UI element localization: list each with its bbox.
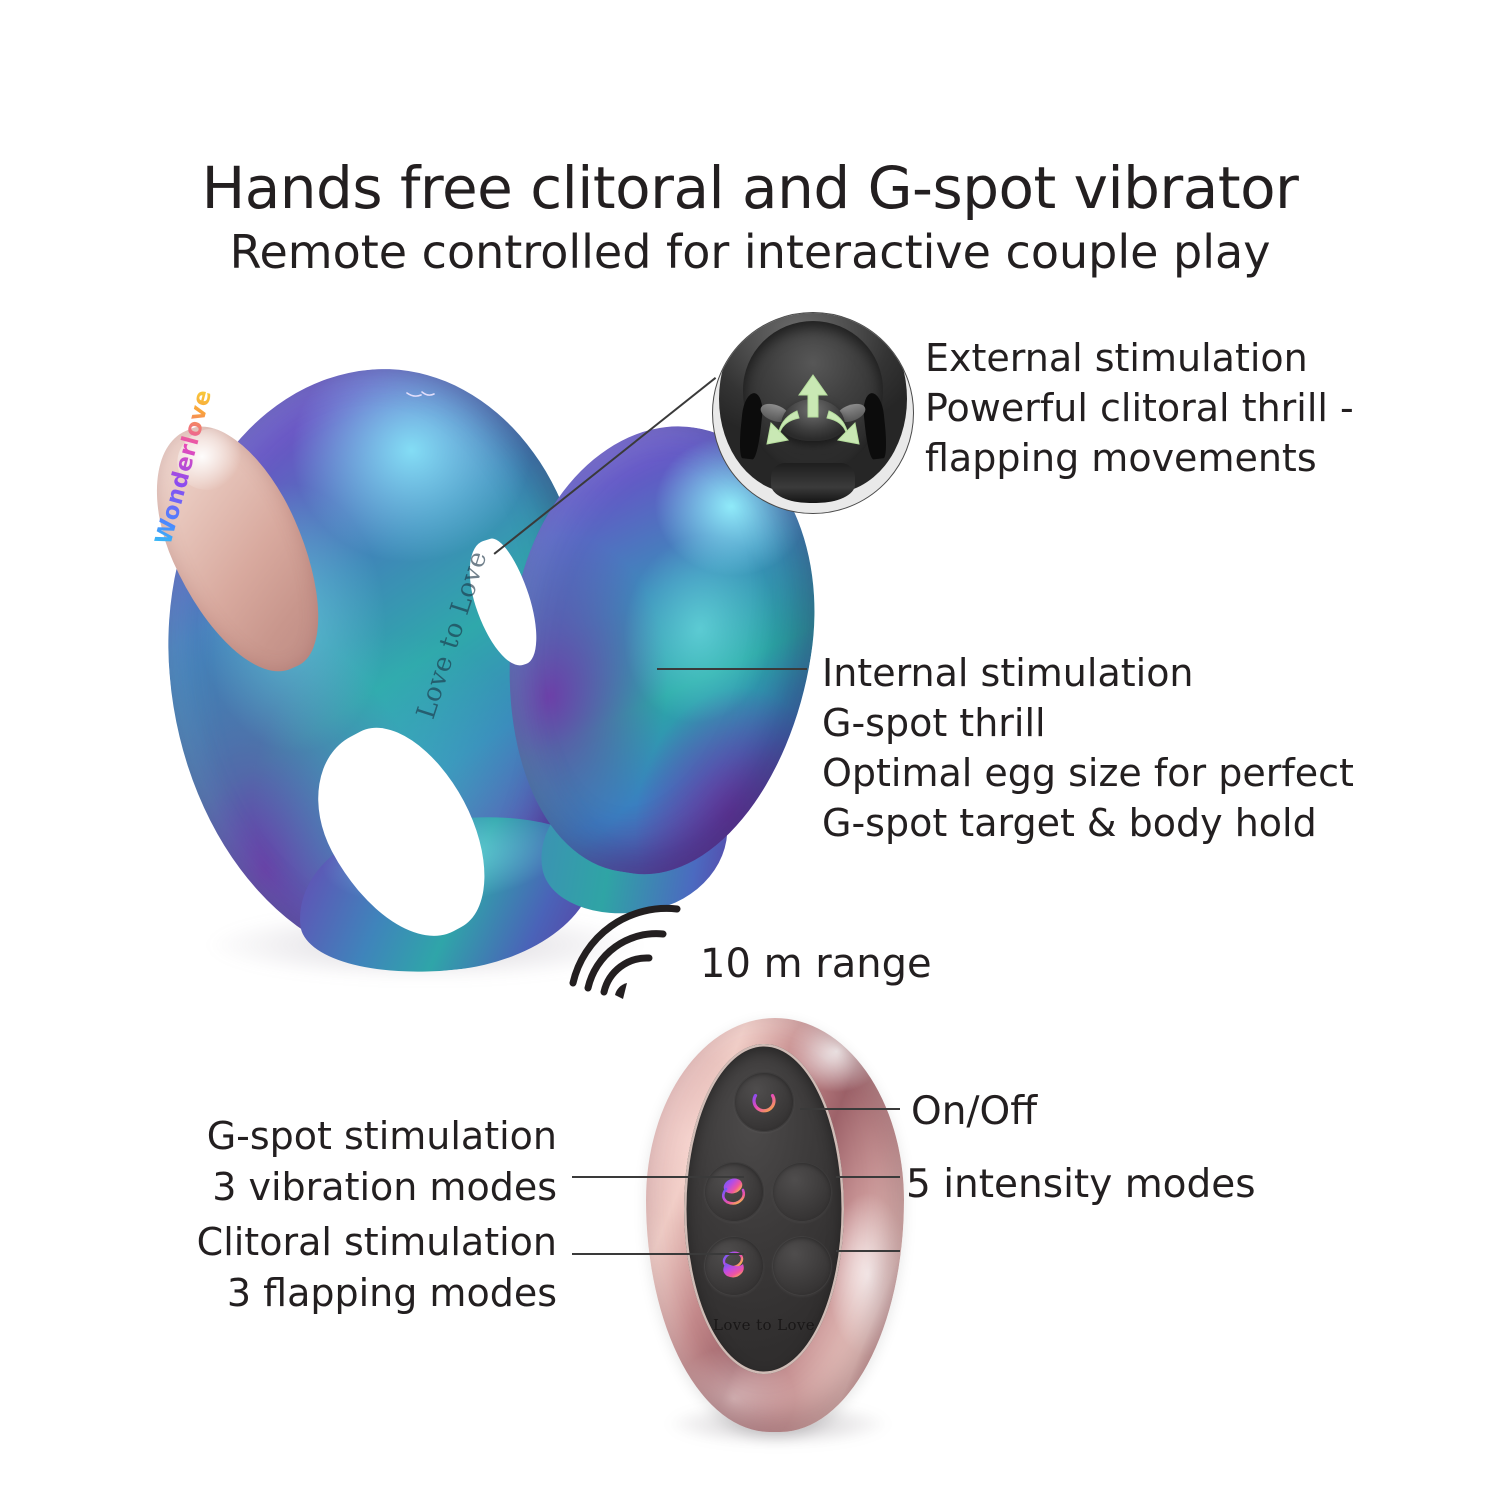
leader-line-intensity-down: [836, 1250, 900, 1252]
callout-intensity-label: 5 intensity modes: [906, 1159, 1256, 1210]
power-icon: [749, 1087, 779, 1117]
arrow-down-right-icon: [827, 411, 859, 444]
intensity-down-button[interactable]: [772, 1236, 832, 1296]
callout-external-stimulation: External stimulation Powerful clitoral t…: [925, 333, 1354, 483]
intensity-up-button[interactable]: [772, 1162, 832, 1222]
leader-line-internal: [657, 668, 807, 670]
clitoral-mode-button[interactable]: [704, 1236, 764, 1296]
callout-internal-stimulation: Internal stimulation G-spot thrill Optim…: [822, 648, 1354, 849]
callout-clitoral-line-2: 3 flapping modes: [197, 1268, 557, 1319]
callout-internal-line-2: G-spot thrill: [822, 698, 1354, 748]
arrow-up-icon: [799, 375, 827, 417]
callout-external-line-3: flapping movements: [925, 433, 1354, 483]
callout-external-line-1: External stimulation: [925, 333, 1354, 383]
callout-internal-line-1: Internal stimulation: [822, 648, 1354, 698]
power-button[interactable]: [734, 1072, 794, 1132]
callout-external-line-2: Powerful clitoral thrill -: [925, 383, 1354, 433]
remote-brand-text: Love to Love: [684, 1316, 844, 1334]
callout-clitoral-modes: Clitoral stimulation 3 flapping modes: [197, 1217, 557, 1319]
leader-line-gspot: [572, 1176, 744, 1178]
arrow-down-left-icon: [767, 411, 799, 444]
callout-range-label: 10 m range: [700, 938, 932, 991]
minus-icon: [787, 1259, 817, 1273]
page-title: Hands free clitoral and G-spot vibrator: [0, 158, 1500, 219]
leader-line-clitoral: [572, 1253, 744, 1255]
page-subtitle: Remote controlled for interactive couple…: [0, 228, 1500, 276]
remote-control-panel: Love to Love: [684, 1044, 844, 1374]
product-image-vibrator: Wonderlove Love to Love: [120, 350, 780, 990]
plus-icon: [788, 1178, 816, 1206]
remote-control-image: Love to Love: [628, 1014, 928, 1444]
callout-clitoral-line-1: Clitoral stimulation: [197, 1217, 557, 1268]
callout-gspot-line-1: G-spot stimulation: [207, 1111, 557, 1162]
wireless-signal-icon: [565, 895, 695, 1000]
product-infographic: Hands free clitoral and G-spot vibrator …: [0, 0, 1500, 1500]
gspot-mode-icon: [717, 1175, 751, 1209]
callout-onoff-label: On/Off: [911, 1086, 1037, 1137]
leader-line-onoff: [800, 1108, 900, 1110]
flapping-motion-arrows: [713, 313, 913, 513]
leader-line-intensity-up: [836, 1176, 900, 1178]
callout-internal-line-3: Optimal egg size for perfect: [822, 748, 1354, 798]
magnifier-detail-circle: [712, 312, 914, 514]
callout-internal-line-4: G-spot target & body hold: [822, 798, 1354, 848]
gspot-mode-button[interactable]: [704, 1162, 764, 1222]
callout-gspot-modes: G-spot stimulation 3 vibration modes: [207, 1111, 557, 1213]
callout-gspot-line-2: 3 vibration modes: [207, 1162, 557, 1213]
charging-contacts-icon: [406, 390, 436, 402]
